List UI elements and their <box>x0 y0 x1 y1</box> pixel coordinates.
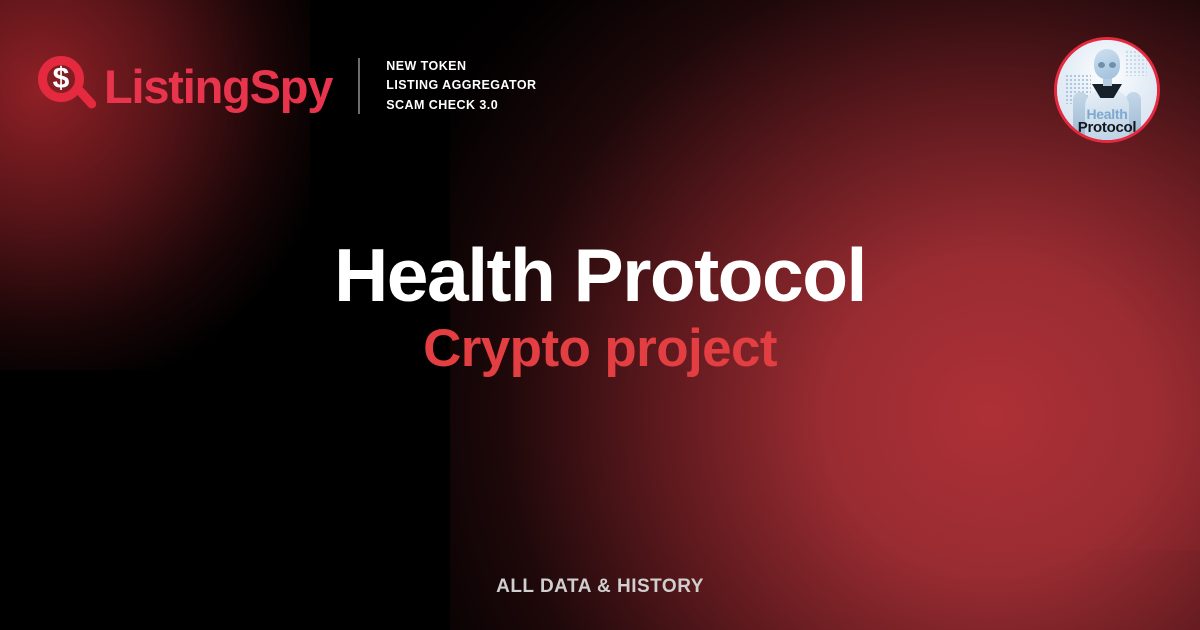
project-avatar[interactable]: Health Protocol <box>1054 37 1160 143</box>
avatar-artwork: Health Protocol <box>1057 40 1157 140</box>
footer-label: ALL DATA & HISTORY <box>496 576 704 597</box>
dollar-sign-icon: $ <box>36 56 86 102</box>
robot-eye-right-icon <box>1109 62 1116 68</box>
brand-wordmark: ListingSpy <box>104 63 332 110</box>
page-title: Health Protocol <box>0 236 1200 314</box>
page-subtitle: Crypto project <box>0 320 1200 378</box>
tagline-line-1: NEW TOKEN <box>386 57 536 76</box>
tagline-line-3: SCAM CHECK 3.0 <box>386 96 536 115</box>
robot-eye-left-icon <box>1098 62 1105 68</box>
robot-head-icon <box>1094 49 1120 79</box>
brand-divider <box>358 58 360 114</box>
avatar-dot-pattern-right <box>1125 50 1147 76</box>
hero-section: Health Protocol Crypto project <box>0 236 1200 378</box>
header: $ ListingSpy NEW TOKEN LISTING AGGREGATO… <box>0 0 1200 170</box>
footer: ALL DATA & HISTORY <box>0 576 1200 598</box>
brand-logo[interactable]: $ ListingSpy NEW TOKEN LISTING AGGREGATO… <box>36 55 536 117</box>
magnifier-dollar-icon: $ <box>36 55 98 117</box>
promo-card: $ ListingSpy NEW TOKEN LISTING AGGREGATO… <box>0 0 1200 630</box>
brand-tagline: NEW TOKEN LISTING AGGREGATOR SCAM CHECK … <box>386 57 536 115</box>
avatar-caption: Health Protocol <box>1057 107 1157 135</box>
tagline-line-2: LISTING AGGREGATOR <box>386 76 536 95</box>
avatar-caption-line-2: Protocol <box>1057 120 1157 135</box>
